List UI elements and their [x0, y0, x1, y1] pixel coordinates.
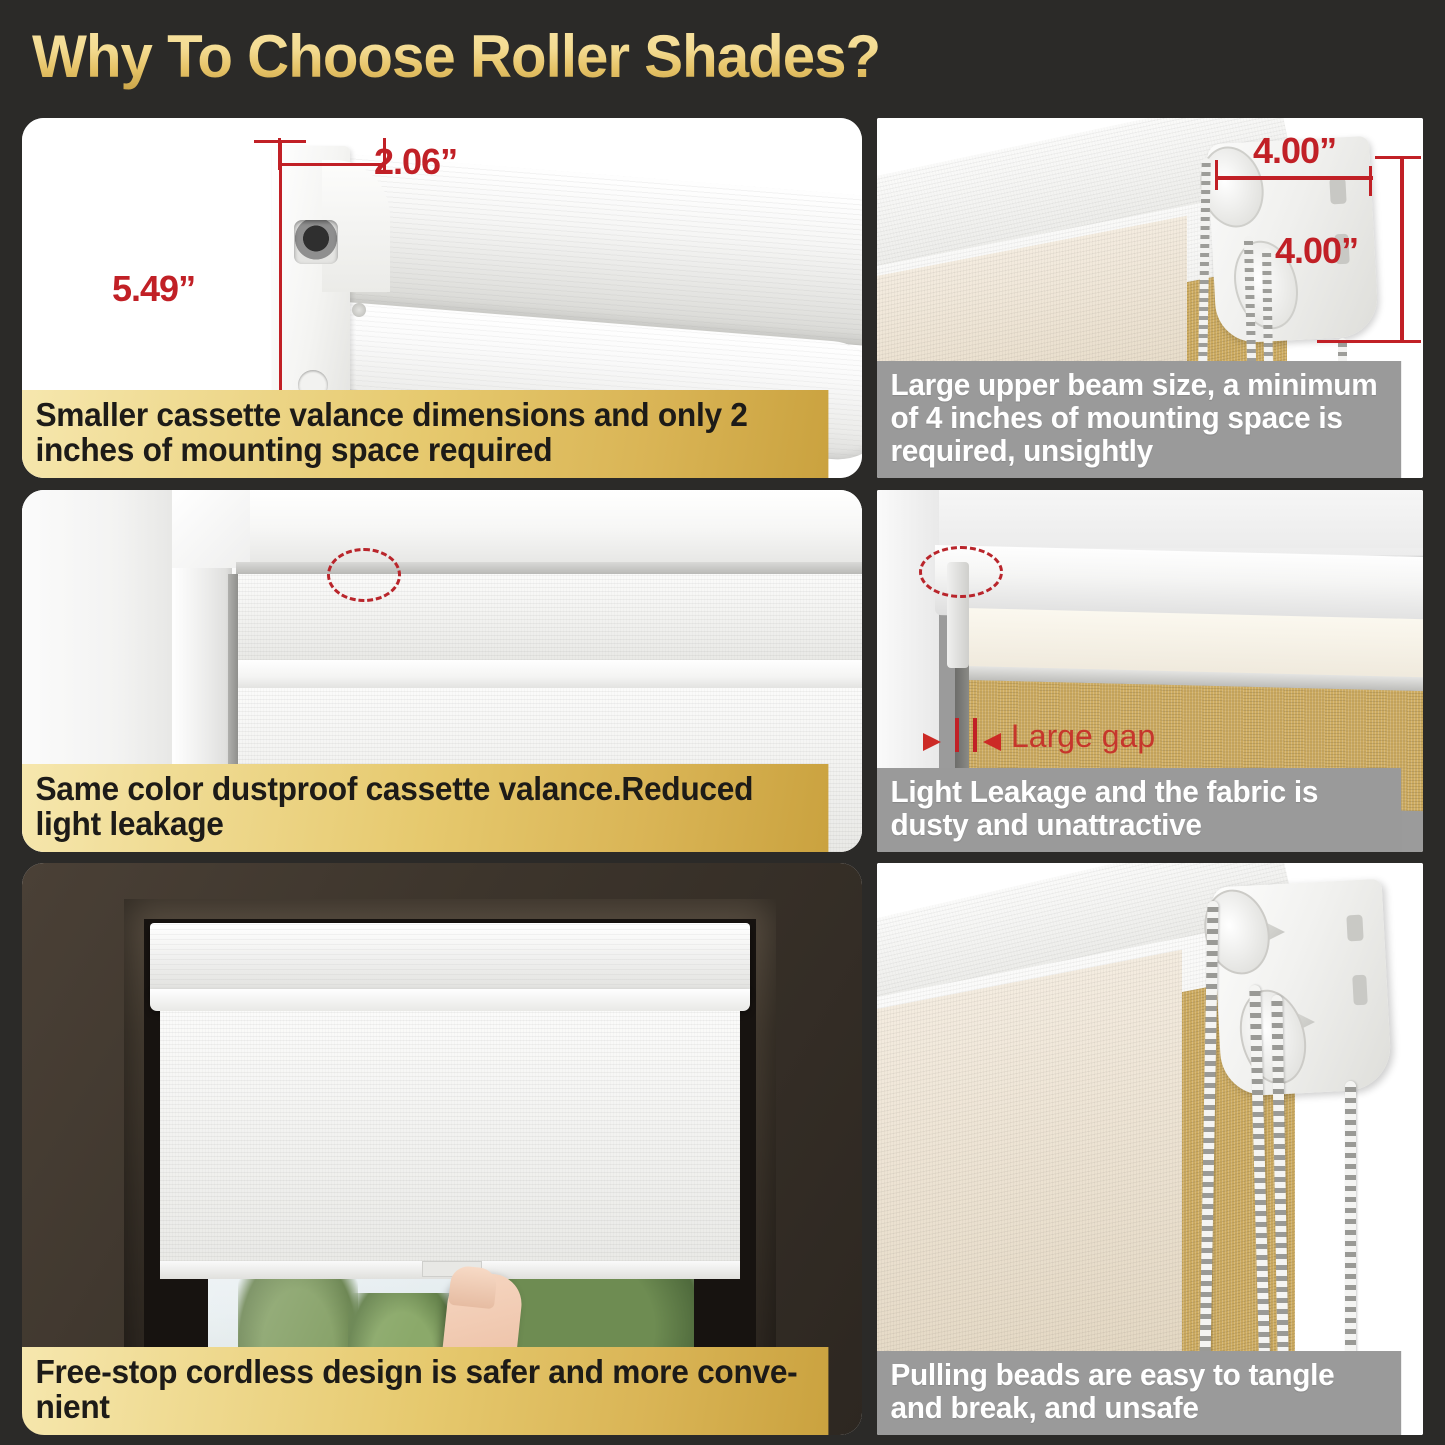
leak-highlight-circle — [919, 546, 1003, 598]
wall-band — [877, 490, 1423, 548]
height-tick-top — [254, 140, 306, 143]
beam-height-label: 4.00” — [1275, 230, 1358, 272]
large-gap-label: Large gap — [1011, 718, 1155, 755]
bracket-notch-bottom — [1352, 975, 1368, 1006]
beam-height-line — [1400, 156, 1404, 342]
window-frame-top — [172, 490, 862, 564]
caption-cordless: Free-stop cordless design is safer and m… — [22, 1347, 828, 1435]
panel-pulling-beads: Pulling beads are easy to tangle and bre… — [877, 863, 1423, 1435]
panel-smaller-gap: smaller gap Same color dustproof cassett… — [22, 490, 862, 852]
caption-pulling-beads: Pulling beads are easy to tangle and bre… — [877, 1351, 1401, 1435]
caption-smaller-gap: Same color dustproof cassette valance.Re… — [22, 764, 828, 852]
large-gap-marker-2 — [973, 718, 977, 752]
width-dimension-line — [278, 163, 386, 166]
beam-width-tick-left — [1215, 160, 1218, 190]
beam-width-tick-right — [1369, 166, 1372, 196]
bracket-notch-top — [1346, 915, 1363, 942]
caption-cassette-dimensions: Smaller cassette valance dimensions and … — [22, 390, 828, 478]
window-frame-corner — [172, 490, 250, 568]
shade-fabric — [160, 1011, 740, 1269]
shade-divider — [236, 660, 862, 688]
height-dimension-label: 5.49” — [112, 268, 195, 310]
panel-large-beam: 4.00” 4.00” Large upper beam size, a min… — [877, 118, 1423, 478]
beam-width-label: 4.00” — [1253, 130, 1336, 172]
fingers — [448, 1265, 498, 1310]
large-gap-marker-1 — [955, 718, 959, 752]
screw-middle — [352, 303, 366, 317]
caption-light-leakage: Light Leakage and the fabric is dusty an… — [877, 768, 1401, 852]
headrail-lip — [150, 989, 750, 1011]
page-title: Why To Choose Roller Shades? — [32, 22, 880, 91]
title-bar: Why To Choose Roller Shades? — [0, 0, 1445, 108]
panel-cassette-dimensions: 2.06” 5.49” Smaller cassette valance dim… — [22, 118, 862, 478]
caption-large-beam: Large upper beam size, a minimum of 4 in… — [877, 361, 1401, 478]
width-dimension-label: 2.06” — [374, 141, 457, 183]
bracket-slot-top — [1329, 178, 1346, 205]
clutch-slot — [294, 220, 338, 264]
beam-height-tick-bottom — [1317, 340, 1421, 343]
large-gap-arrow-left — [923, 733, 941, 751]
panel-cordless: Free-stop cordless design is safer and m… — [22, 863, 862, 1435]
beam-height-tick-top — [1375, 156, 1421, 159]
shade-headrail-texture — [150, 923, 750, 995]
large-gap-arrow-right — [983, 733, 1001, 751]
panel-light-leakage: Large gap Light Leakage and the fabric i… — [877, 490, 1423, 852]
gap-highlight-circle — [327, 548, 401, 602]
beam-width-line — [1215, 176, 1373, 180]
comparison-grid: 2.06” 5.49” Smaller cassette valance dim… — [0, 108, 1445, 1445]
pulling-beads-photo — [877, 863, 1423, 1435]
